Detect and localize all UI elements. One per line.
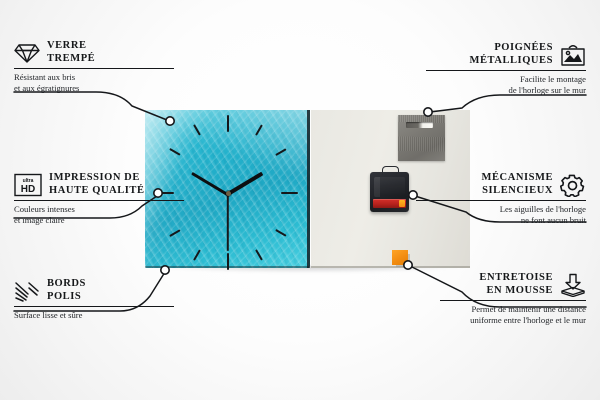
callout-subtitle: Permet de maintenir une distance uniform… (440, 304, 586, 325)
callout-poignees: POIGNÉES MÉTALLIQUES Facilite le montage… (426, 42, 586, 95)
callout-divider (14, 200, 184, 201)
foam-spacer (392, 250, 408, 265)
callout-mecanisme: MÉCANISME SILENCIEUX Les aiguilles de l'… (416, 172, 586, 225)
callout-title: MÉCANISME SILENCIEUX (482, 172, 553, 197)
callout-subtitle: Les aiguilles de l'horloge ne font aucun… (416, 204, 586, 225)
clock-second-hand (227, 194, 229, 251)
callout-subtitle: Surface lisse et sûre (14, 310, 174, 320)
clock-center-hub (226, 191, 231, 196)
callout-header: MÉCANISME SILENCIEUX (416, 172, 586, 197)
clock-tick (281, 192, 298, 194)
callout-subtitle: Résistant aux bris et aux égratignures (14, 72, 174, 93)
metal-handle-plate (398, 115, 445, 161)
callout-impression: ultra HD IMPRESSION DE HAUTE QUALITÉ Cou… (14, 172, 184, 225)
callout-header: POIGNÉES MÉTALLIQUES (426, 42, 586, 67)
polished-edges-icon (14, 280, 40, 302)
wall-mount-frame-icon (560, 43, 586, 67)
clock-tick (227, 253, 229, 270)
infographic-canvas: VERRE TREMPÉ Résistant aux bris et aux é… (0, 0, 600, 400)
diamond-icon (14, 42, 40, 64)
callout-title: BORDS POLIS (47, 278, 86, 303)
callout-divider (14, 306, 174, 307)
callout-subtitle: Couleurs intenses et image claire (14, 204, 184, 225)
battery (373, 199, 406, 208)
callout-title: POIGNÉES MÉTALLIQUES (470, 42, 553, 67)
callout-divider (426, 70, 586, 71)
callout-header: VERRE TREMPÉ (14, 40, 174, 65)
callout-subtitle: Facilite le montage de l'horloge sur le … (426, 74, 586, 95)
callout-bords-polis: BORDS POLIS Surface lisse et sûre (14, 278, 174, 321)
callout-title: VERRE TREMPÉ (47, 40, 95, 65)
callout-entretoise: ENTRETOISE EN MOUSSE Permet de maintenir… (440, 272, 586, 325)
callout-header: BORDS POLIS (14, 278, 174, 303)
arrow-down-layers-icon (560, 273, 586, 297)
clock-tick (227, 115, 229, 132)
callout-divider (440, 300, 586, 301)
callout-divider (416, 200, 586, 201)
mechanism-hanger-hook (382, 166, 399, 175)
gear-icon (560, 173, 586, 197)
svg-text:HD: HD (21, 184, 35, 195)
callout-header: ultra HD IMPRESSION DE HAUTE QUALITÉ (14, 172, 184, 197)
callout-divider (14, 68, 174, 69)
clock-mechanism (370, 172, 409, 212)
ultra-hd-badge-icon: ultra HD (14, 173, 42, 197)
metal-plate-slot (406, 122, 433, 128)
callout-title: ENTRETOISE EN MOUSSE (479, 272, 553, 297)
callout-title: IMPRESSION DE HAUTE QUALITÉ (49, 172, 145, 197)
callout-header: ENTRETOISE EN MOUSSE (440, 272, 586, 297)
callout-verre-trempe: VERRE TREMPÉ Résistant aux bris et aux é… (14, 40, 174, 93)
